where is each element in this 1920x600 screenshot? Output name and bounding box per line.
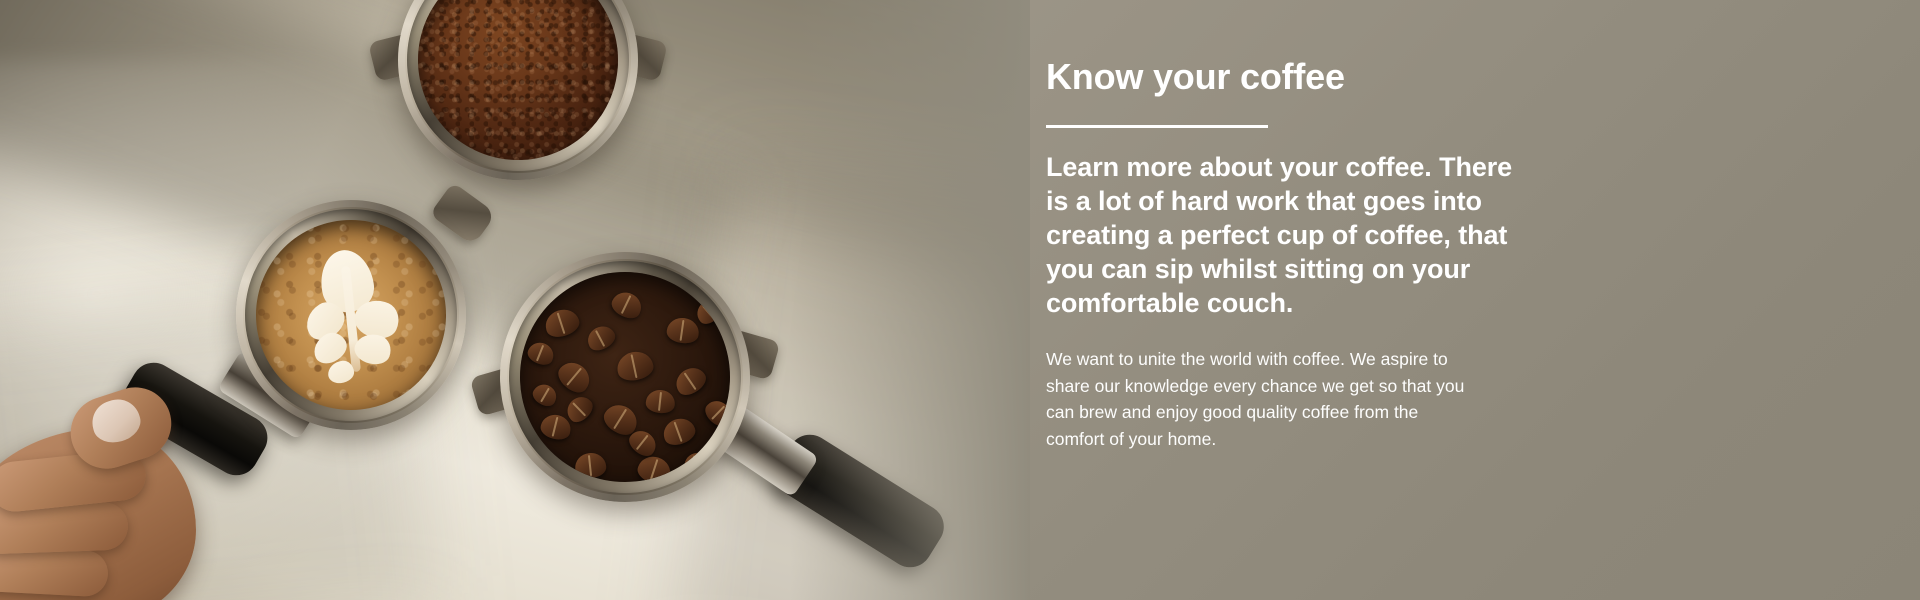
coffee-bean bbox=[525, 339, 557, 368]
coffee-bean bbox=[665, 316, 700, 345]
portafilter-basket bbox=[256, 220, 446, 410]
photo-edge-fade bbox=[790, 0, 1030, 600]
coffee-bean bbox=[609, 288, 646, 323]
coffee-bean bbox=[634, 452, 673, 482]
coffee-bean bbox=[553, 357, 595, 398]
coffee-bean bbox=[645, 388, 676, 414]
coffee-bean bbox=[529, 381, 560, 410]
portafilter-ground-coffee bbox=[398, 0, 638, 180]
portafilter-latte bbox=[236, 200, 466, 430]
page-title: Know your coffee bbox=[1046, 58, 1566, 97]
ground-coffee-texture bbox=[418, 0, 618, 160]
hand bbox=[0, 370, 260, 600]
portafilter-basket bbox=[418, 0, 618, 160]
coffee-bean bbox=[584, 321, 619, 354]
coffee-bean bbox=[671, 362, 710, 399]
coffee-bean bbox=[659, 414, 698, 448]
hero-subheadline: Learn more about your coffee. There is a… bbox=[1046, 150, 1522, 320]
coffee-bean bbox=[573, 451, 606, 479]
portafilter-beans bbox=[500, 252, 750, 502]
hero-text-panel: Know your coffee Learn more about your c… bbox=[1030, 0, 1920, 600]
coffee-bean bbox=[542, 305, 582, 340]
hero-copy: Know your coffee Learn more about your c… bbox=[1046, 58, 1566, 453]
coffee-hero-banner: Know your coffee Learn more about your c… bbox=[0, 0, 1920, 600]
portafilter-basket bbox=[520, 272, 730, 482]
hero-photo bbox=[0, 0, 1030, 600]
coffee-bean bbox=[614, 348, 655, 383]
hero-body-text: We want to unite the world with coffee. … bbox=[1046, 346, 1478, 453]
title-divider bbox=[1046, 125, 1268, 128]
